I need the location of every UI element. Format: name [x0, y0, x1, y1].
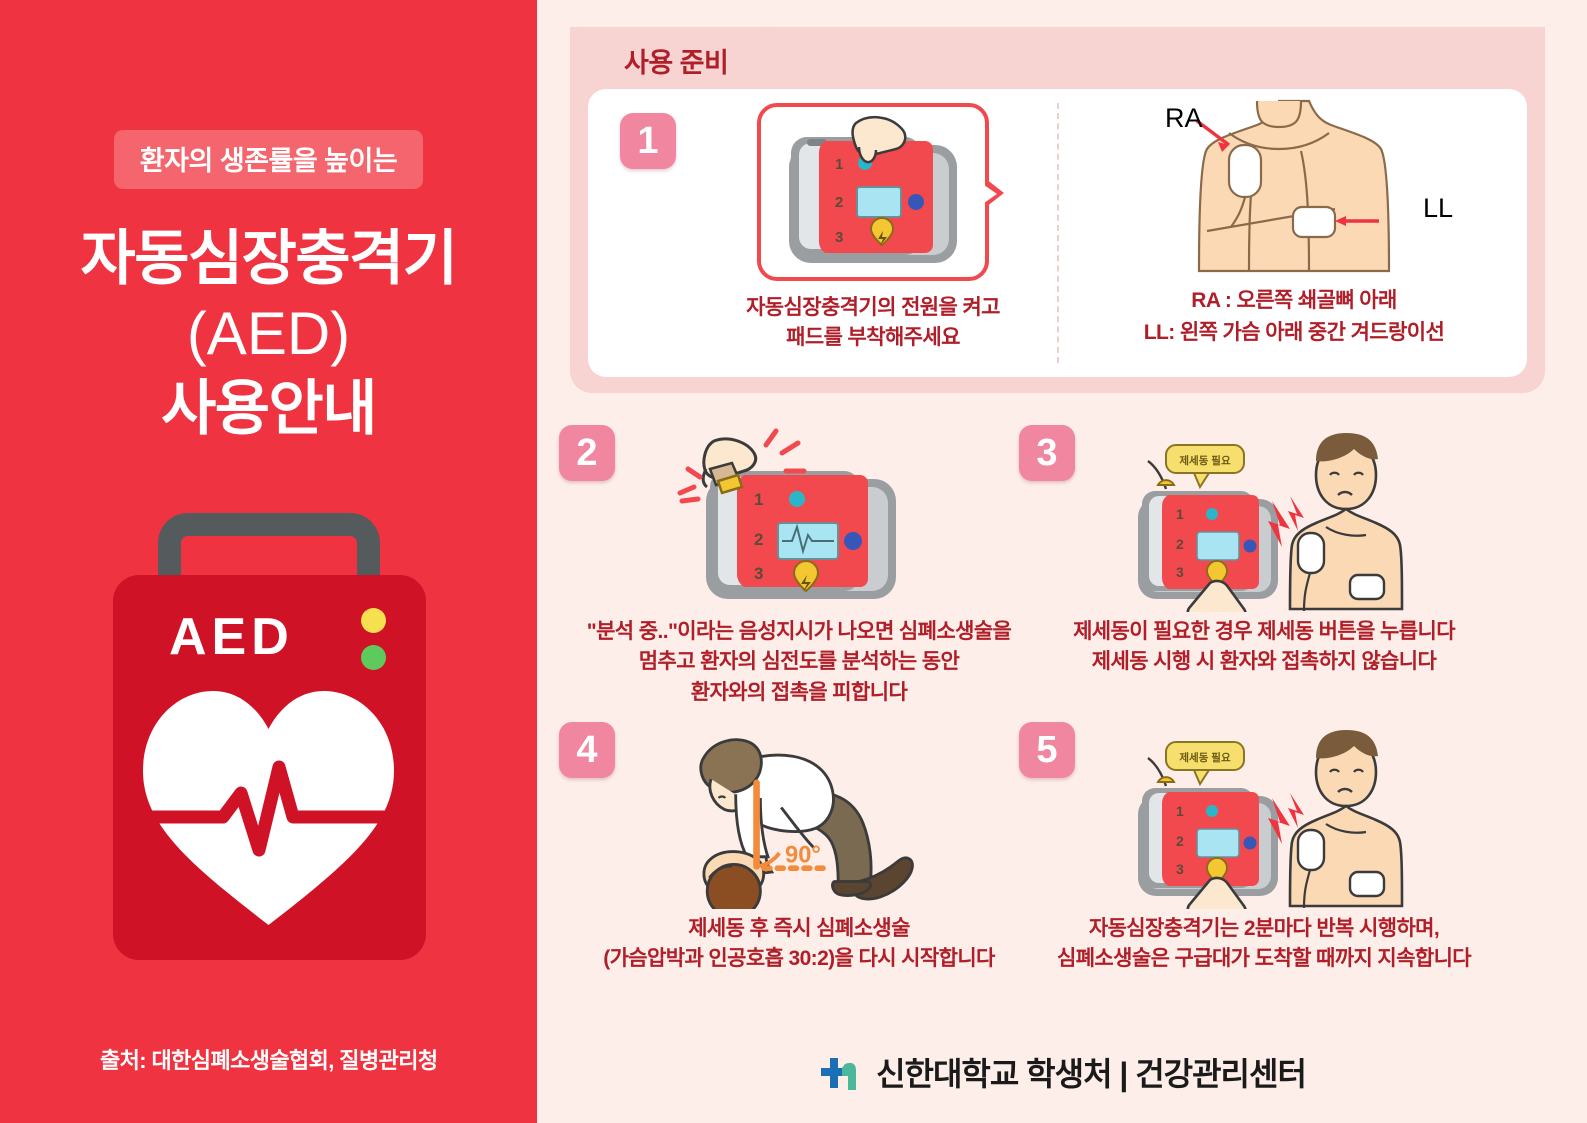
- step-1-left: 1 2 3 자동심장충격기의 전원을 켜고 패드를 부착해주세요: [692, 99, 1054, 369]
- repeat-shock-icon: 1 2 3 제세동 필요: [1114, 724, 1414, 909]
- callout-frame: 1 2 3: [757, 103, 989, 281]
- bubble-text: 제세동 필요: [1179, 751, 1231, 764]
- svg-text:3: 3: [1176, 564, 1184, 580]
- pad-label-ra: RA: [1165, 103, 1203, 134]
- step-2-caption: "분석 중.."이라는 음성지시가 나오면 심폐소생술을 멈추고 환자의 심전도…: [534, 617, 1064, 708]
- preparation-inner-card: 1 1 2 3: [588, 89, 1527, 377]
- angle-label: 90°: [785, 843, 821, 869]
- aed-analyzing-icon: 1 2 3: [654, 427, 954, 612]
- svg-text:3: 3: [754, 564, 763, 583]
- pad-placement-caption: RA : 오른쪽 쇄골뼈 아래 LL: 왼쪽 가슴 아래 중간 겨드랑이선: [1144, 285, 1444, 348]
- pad-label-ll: LL: [1423, 193, 1453, 224]
- step-4-caption: 제세동 후 즉시 심폐소생술 (가슴압박과 인공호흡 30:2)을 다시 시작합…: [534, 914, 1064, 975]
- step-badge-2: 2: [559, 425, 615, 481]
- shock-delivery-icon: 1 2 3 제세동 필요: [1114, 427, 1414, 612]
- shinhan-university-logo-icon: [818, 1050, 862, 1094]
- source-attribution: 출처: 대한심폐소생술협회, 질병관리청: [100, 1043, 438, 1075]
- step-badge-3: 3: [1019, 425, 1075, 481]
- step-5-caption: 자동심장충격기는 2분마다 반복 시행하며, 심폐소생술은 구급대가 도착할 때…: [1009, 914, 1519, 975]
- aed-device-illustration: AED: [113, 513, 426, 960]
- aed-led-green-icon: [361, 645, 386, 670]
- steps-panel: 사용 준비 1 1 2 3: [537, 0, 1587, 1123]
- svg-text:1: 1: [835, 156, 843, 173]
- step-badge-5: 5: [1019, 722, 1075, 778]
- aed-led-yellow-icon: [361, 608, 386, 633]
- step-1-caption: 자동심장충격기의 전원을 켜고 패드를 부착해주세요: [746, 293, 1000, 354]
- svg-text:2: 2: [754, 530, 763, 549]
- svg-text:1: 1: [754, 490, 763, 509]
- kicker-label: 환자의 생존률을 높이는: [114, 130, 423, 189]
- step-1-right: RA LL RA : 오른쪽 쇄골뼈 아래 LL: 왼쪽 가슴 아래 중간 겨드…: [1074, 97, 1514, 369]
- title-line-3: 사용안내: [81, 371, 457, 446]
- heart-ecg-icon: [141, 685, 396, 930]
- bubble-text: 제세동 필요: [1179, 454, 1231, 467]
- step-badge-1: 1: [620, 113, 676, 169]
- title-line-1: 자동심장충격기: [81, 221, 457, 296]
- left-brand-panel: 환자의 생존률을 높이는 자동심장충격기 (AED) 사용안내 AED 출처: …: [0, 0, 537, 1123]
- pad-placement-diagram: RA LL: [1129, 97, 1459, 279]
- aed-power-on-icon: 1 2 3: [761, 107, 993, 285]
- step-badge-4: 4: [559, 722, 615, 778]
- aed-body: AED: [113, 575, 426, 960]
- svg-text:3: 3: [835, 229, 843, 246]
- aed-device-label: AED: [169, 607, 294, 667]
- footer-organization: 신한대학교 학생처 | 건강관리센터: [876, 1049, 1306, 1095]
- preparation-tab-label: 사용 준비: [624, 41, 728, 80]
- step-3-caption: 제세동이 필요한 경우 제세동 버튼을 누릅니다 제세동 시행 시 환자와 접촉…: [1009, 617, 1519, 678]
- preparation-section: 사용 준비 1 1 2 3: [570, 27, 1545, 393]
- svg-text:1: 1: [1176, 803, 1184, 819]
- svg-text:1: 1: [1176, 506, 1184, 522]
- vertical-divider: [1057, 103, 1059, 363]
- page-title: 자동심장충격기 (AED) 사용안내: [81, 221, 457, 446]
- svg-text:2: 2: [835, 194, 843, 211]
- title-line-2: (AED): [81, 296, 457, 371]
- svg-text:3: 3: [1176, 861, 1184, 877]
- svg-text:2: 2: [1176, 833, 1184, 849]
- footer: 신한대학교 학생처 | 건강관리센터: [537, 1049, 1587, 1095]
- cpr-compression-icon: 90°: [654, 724, 954, 909]
- svg-text:2: 2: [1176, 536, 1184, 552]
